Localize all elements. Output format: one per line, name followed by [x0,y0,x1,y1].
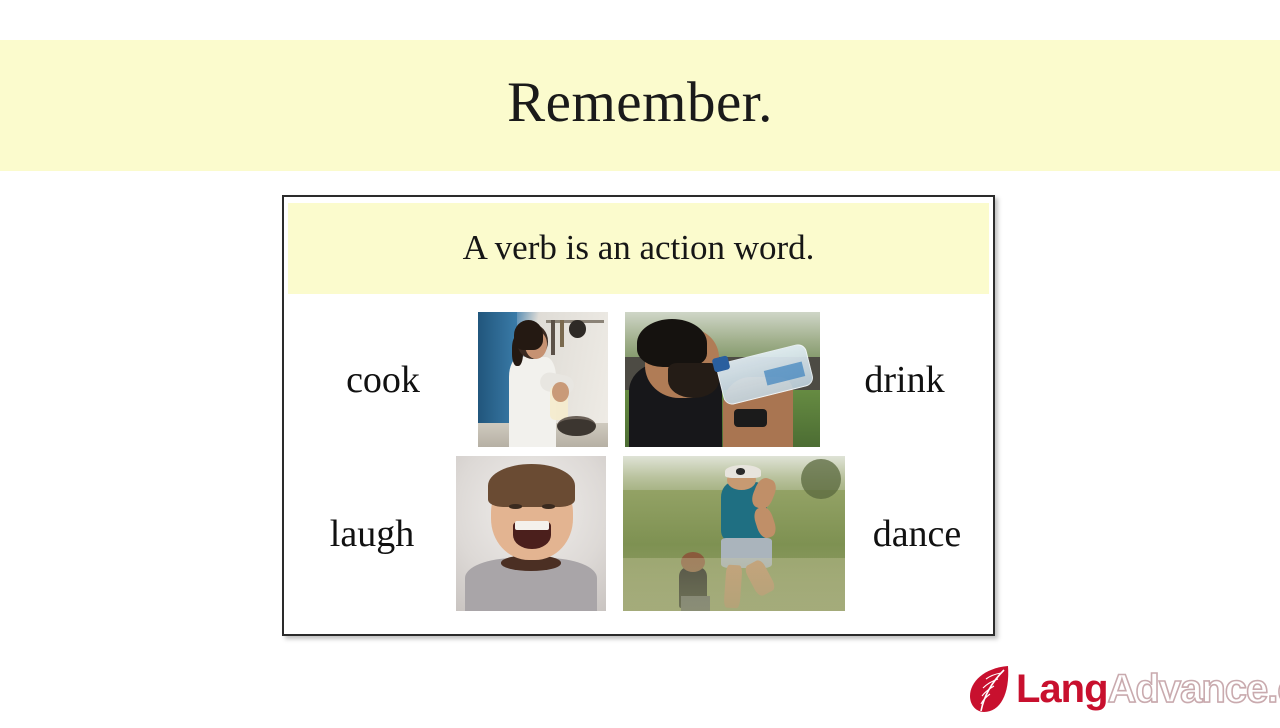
cap-logo [736,468,745,474]
child-right-eye [542,504,556,509]
lesson-card: A verb is an action word. cook [282,195,995,636]
verb-label-laugh: laugh [330,515,414,553]
drinker-hair [637,319,707,368]
hanging-utensil-icon [551,320,555,355]
verb-label-cell-dance: dance [845,456,989,611]
verb-label-cell-cook: cook [288,302,478,457]
title-banner: Remember. [0,40,1280,171]
logo-wordmark: Lang Advance.com udemy [1016,669,1280,709]
foreground-grass [623,558,845,611]
lesson-card-inner: A verb is an action word. cook [284,197,993,634]
logo-primary-text: Lang [1016,669,1108,709]
page-title: Remember. [507,74,773,137]
photo-dance-scene [623,456,845,611]
leaf-icon [968,664,1012,714]
photo-dance [623,456,845,611]
hanging-pot-icon [569,320,586,338]
hanging-spoon-icon [560,320,564,347]
verb-label-dance: dance [873,515,962,553]
photo-cook-scene [478,312,608,447]
wristwatch-icon [734,409,767,427]
verb-label-cook: cook [346,361,420,399]
child-hair [488,464,575,507]
drinker-beard [668,363,719,398]
child-left-eye [509,504,523,509]
cook-torso [509,357,556,447]
photo-laugh-scene [456,456,606,611]
background-tree [801,459,841,499]
verb-grid: cook [288,298,989,629]
card-header-text: A verb is an action word. [463,230,815,267]
logo-secondary-text: Advance.com [1108,669,1280,709]
photo-laugh [456,456,606,611]
verb-label-cell-laugh: laugh [288,456,456,611]
verb-row: cook [288,302,989,457]
verb-label-cell-drink: drink [820,302,989,457]
photo-drink-scene [625,312,820,447]
photo-cook [478,312,608,447]
verb-label-drink: drink [864,361,944,399]
child-teeth [515,521,550,530]
brand-logo[interactable]: Lang Advance.com udemy [968,660,1268,718]
cook-hair [514,320,543,350]
verb-row: laugh [288,456,989,611]
photo-drink [625,312,820,447]
card-header-banner: A verb is an action word. [288,203,989,294]
